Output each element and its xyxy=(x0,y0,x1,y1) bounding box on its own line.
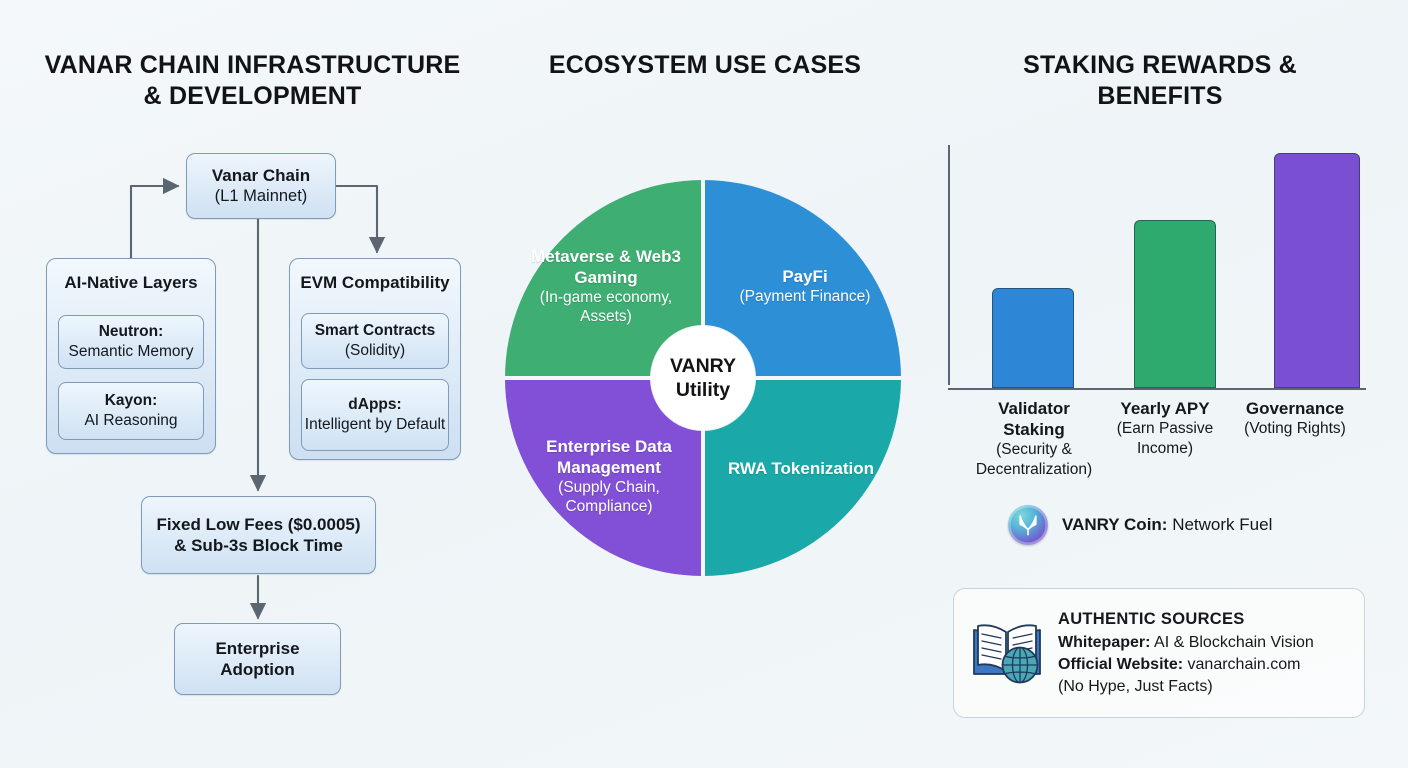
bar-caption-governance-line1: Governance xyxy=(1222,398,1368,419)
donut-center-line1: VANRY xyxy=(670,354,736,378)
group-evm-compatibility-title: EVM Compatibility xyxy=(290,273,460,293)
donut-label-payfi-line1: PayFi xyxy=(735,266,875,287)
vanry-coin-name: VANRY Coin: xyxy=(1062,515,1167,534)
node-vanar-chain-subtitle: (L1 Mainnet) xyxy=(215,186,308,207)
group-ai-native-layers-title: AI-Native Layers xyxy=(47,273,215,293)
node-kayon-title: Kayon: xyxy=(105,391,158,411)
staking-bar-chart[interactable] xyxy=(948,145,1366,390)
ecosystem-donut-chart[interactable]: Metaverse & Web3 Gaming (In-game economy… xyxy=(503,178,903,578)
donut-label-metaverse: Metaverse & Web3 Gaming (In-game economy… xyxy=(521,246,691,326)
bar-validator-staking[interactable] xyxy=(992,288,1074,388)
node-enterprise-adoption-line1: Enterprise xyxy=(215,638,299,659)
sources-note: (No Hype, Just Facts) xyxy=(1058,676,1314,698)
sources-whitepaper-label: Whitepaper: xyxy=(1058,634,1150,651)
node-neutron[interactable]: Neutron: Semantic Memory xyxy=(58,315,204,369)
node-vanar-chain-title: Vanar Chain xyxy=(212,165,310,186)
bar-caption-governance-sub: (Voting Rights) xyxy=(1222,419,1368,439)
vanry-coin-glyph xyxy=(1008,505,1048,545)
node-neutron-subtitle: Semantic Memory xyxy=(69,342,194,362)
node-enterprise-adoption-line2: Adoption xyxy=(220,659,295,680)
donut-label-payfi: PayFi (Payment Finance) xyxy=(735,266,875,306)
authentic-sources-box[interactable]: AUTHENTIC SOURCES Whitepaper: AI & Block… xyxy=(953,588,1365,718)
infographic-canvas: VANAR CHAIN INFRASTRUCTURE & DEVELOPMENT… xyxy=(0,0,1408,768)
sources-website-line: Official Website: vanarchain.com xyxy=(1058,654,1314,676)
node-fixed-low-fees-line2: & Sub-3s Block Time xyxy=(174,535,343,556)
connector-ai-to-chain xyxy=(131,186,178,260)
sources-whitepaper-value: AI & Blockchain Vision xyxy=(1154,634,1314,651)
donut-label-enterprise-data-line1: Enterprise Data Management xyxy=(521,436,697,478)
donut-label-rwa: RWA Tokenization xyxy=(721,458,881,479)
left-column-title: VANAR CHAIN INFRASTRUCTURE & DEVELOPMENT xyxy=(40,50,465,112)
donut-label-enterprise-data-sub: (Supply Chain, Compliance) xyxy=(521,478,697,516)
bar-caption-governance: Governance (Voting Rights) xyxy=(1222,398,1368,439)
node-vanar-chain[interactable]: Vanar Chain (L1 Mainnet) xyxy=(186,153,336,219)
right-column-title: STAKING REWARDS & BENEFITS xyxy=(960,50,1360,112)
bar-caption-yearly-apy-line1: Yearly APY xyxy=(1092,398,1238,419)
sources-heading: AUTHENTIC SOURCES xyxy=(1058,608,1314,630)
book-globe-svg xyxy=(970,616,1044,686)
bar-caption-yearly-apy: Yearly APY (Earn Passive Income) xyxy=(1092,398,1238,459)
book-globe-icon xyxy=(970,616,1044,691)
sources-website-value[interactable]: vanarchain.com xyxy=(1188,656,1301,673)
node-smart-contracts-subtitle: (Solidity) xyxy=(345,341,405,361)
node-fixed-low-fees[interactable]: Fixed Low Fees ($0.0005) & Sub-3s Block … xyxy=(141,496,376,574)
bar-chart-x-axis xyxy=(948,388,1366,390)
vanry-coin-icon xyxy=(1008,505,1048,545)
vanry-coin-text: VANRY Coin: Network Fuel xyxy=(1062,515,1272,535)
donut-center-line2: Utility xyxy=(676,378,730,402)
sources-text-block: AUTHENTIC SOURCES Whitepaper: AI & Block… xyxy=(1058,608,1314,698)
donut-label-rwa-line1: RWA Tokenization xyxy=(721,458,881,479)
donut-label-metaverse-sub: (In-game economy, Assets) xyxy=(521,288,691,326)
bar-governance[interactable] xyxy=(1274,153,1360,388)
node-kayon[interactable]: Kayon: AI Reasoning xyxy=(58,382,204,440)
bar-caption-yearly-apy-sub: (Earn Passive Income) xyxy=(1092,419,1238,459)
node-enterprise-adoption[interactable]: Enterprise Adoption xyxy=(174,623,341,695)
node-fixed-low-fees-line1: Fixed Low Fees ($0.0005) xyxy=(156,514,360,535)
donut-label-payfi-sub: (Payment Finance) xyxy=(735,287,875,306)
bar-chart-y-axis xyxy=(948,145,950,385)
vanry-coin-role: Network Fuel xyxy=(1172,515,1272,534)
donut-label-metaverse-line1: Metaverse & Web3 Gaming xyxy=(521,246,691,288)
donut-label-enterprise-data: Enterprise Data Management (Supply Chain… xyxy=(521,436,697,516)
node-smart-contracts[interactable]: Smart Contracts (Solidity) xyxy=(301,313,449,369)
center-column-title: ECOSYSTEM USE CASES xyxy=(505,50,905,81)
bar-yearly-apy[interactable] xyxy=(1134,220,1216,388)
node-dapps-title: dApps: xyxy=(348,395,401,415)
node-dapps-subtitle: Intelligent by Default xyxy=(305,415,445,435)
vanry-coin-row: VANRY Coin: Network Fuel xyxy=(1008,505,1272,545)
sources-whitepaper-line: Whitepaper: AI & Blockchain Vision xyxy=(1058,632,1314,654)
connector-chain-to-evm xyxy=(336,186,377,252)
node-smart-contracts-title: Smart Contracts xyxy=(315,321,436,341)
node-neutron-title: Neutron: xyxy=(99,322,164,342)
node-kayon-subtitle: AI Reasoning xyxy=(84,411,177,431)
node-dapps[interactable]: dApps: Intelligent by Default xyxy=(301,379,449,451)
donut-center-hub: VANRY Utility xyxy=(651,326,755,430)
sources-website-label: Official Website: xyxy=(1058,656,1183,673)
